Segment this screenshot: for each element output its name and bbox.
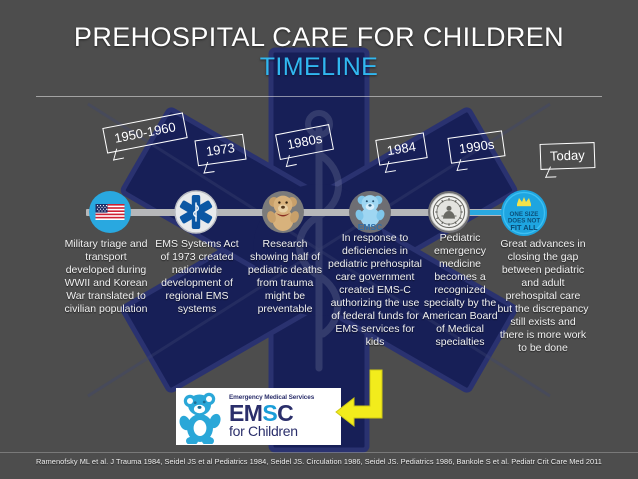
title-divider xyxy=(36,96,602,97)
timeline-node-6: ONE SIZE DOES NOT FIT ALL xyxy=(500,189,548,237)
date-label: 1980s xyxy=(286,131,324,152)
title-main: PREHOSPITAL CARE FOR CHILDREN xyxy=(0,22,638,52)
date-bubble-today: Today xyxy=(540,142,596,170)
star-of-life-icon xyxy=(174,190,218,234)
emsc-bear-icon: EMSC xyxy=(348,190,392,234)
title-subtitle: TIMELINE xyxy=(0,52,638,82)
teddy-bear-icon xyxy=(261,190,305,234)
timeline-node-5 xyxy=(427,190,471,234)
timeline-text-4: In response to deficiencies in pediatric… xyxy=(328,232,422,349)
date-label: 1973 xyxy=(205,140,236,159)
timeline-text-1: Military triage and transport developed … xyxy=(60,238,152,316)
us-flag-icon xyxy=(88,190,132,234)
page-title: PREHOSPITAL CARE FOR CHILDREN TIMELINE xyxy=(0,22,638,82)
svg-text:FIT ALL: FIT ALL xyxy=(510,223,538,232)
timeline-node-4: EMSC xyxy=(348,190,392,234)
one-size-does-not-fit-all-badge-icon: ONE SIZE DOES NOT FIT ALL xyxy=(500,189,548,237)
svg-text:EMSC: EMSC xyxy=(358,222,383,232)
emsc-logo: Emergency Medical Services EMSC for Chil… xyxy=(176,388,341,445)
emsc-acronym: EMSC xyxy=(229,402,341,425)
timeline-text-3: Research showing half of pediatric death… xyxy=(243,238,327,316)
date-label: 1990s xyxy=(458,137,495,157)
footer-divider xyxy=(0,452,638,453)
timeline-node-2 xyxy=(174,190,218,234)
timeline-node-1 xyxy=(88,190,132,234)
slide-canvas: PREHOSPITAL CARE FOR CHILDREN TIMELINE 1… xyxy=(0,0,638,479)
date-label: 1984 xyxy=(386,139,417,158)
emsc-tagline: for Children xyxy=(229,424,341,438)
timeline-text-5: Pediatric emergency medicine becomes a r… xyxy=(419,232,501,349)
abms-seal-icon xyxy=(427,190,471,234)
yellow-elbow-arrow-icon xyxy=(330,368,392,440)
timeline-text-2: EMS Systems Act of 1973 created nationwi… xyxy=(152,238,242,316)
date-label: 1950-1960 xyxy=(113,119,177,146)
emsc-logo-text: Emergency Medical Services EMSC for Chil… xyxy=(228,395,341,438)
citation-text: Ramenofsky ML et al. J Trauma 1984, Seid… xyxy=(0,457,638,467)
timeline-text-6: Great advances in closing the gap betwee… xyxy=(497,238,589,355)
date-label: Today xyxy=(550,147,585,163)
blue-teddy-bear-icon xyxy=(176,390,228,444)
timeline-node-3 xyxy=(261,190,305,234)
